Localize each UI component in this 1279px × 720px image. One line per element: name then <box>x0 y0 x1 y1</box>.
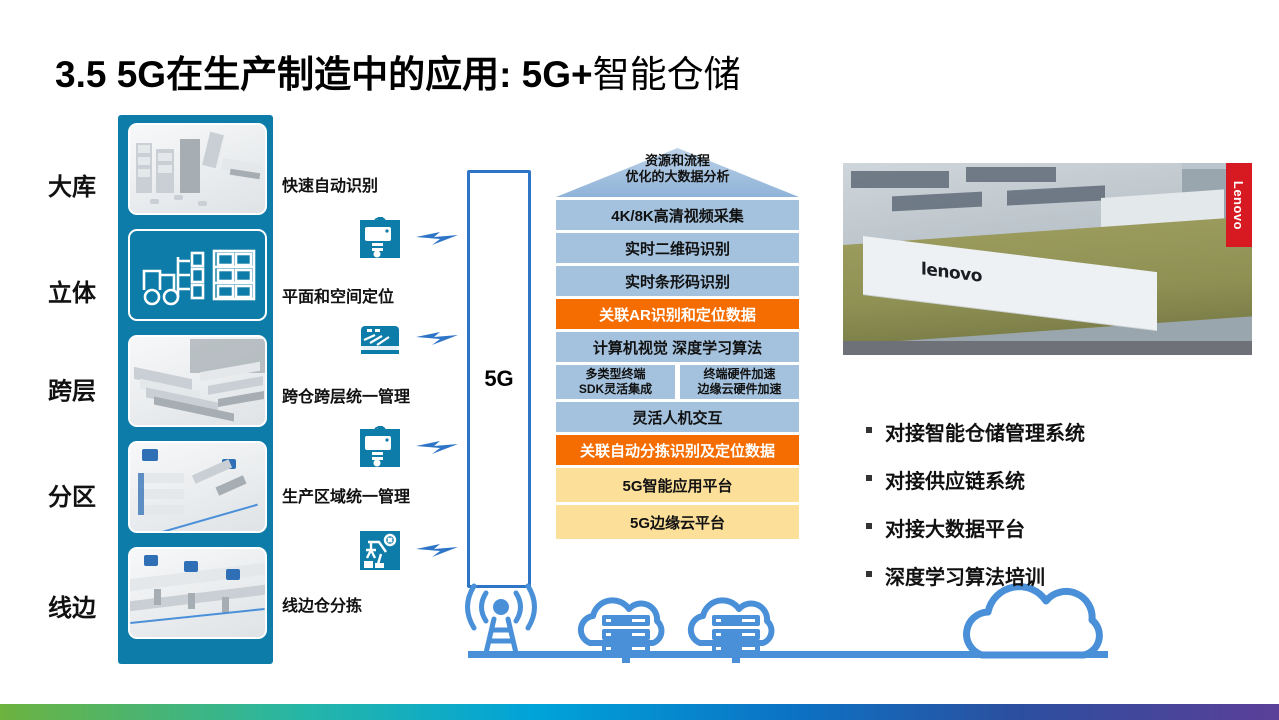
multi-level-conveyor-illustration <box>130 337 265 425</box>
slide-canvas: 3.5 5G在生产制造中的应用: 5G+智能仓储 <box>0 0 1279 720</box>
capability-label-2: 平面和空间定位 <box>282 283 394 307</box>
lightning-bolt-arrow-icon <box>414 437 460 457</box>
left-image-panel <box>118 115 273 664</box>
stack-layer-ar: 关联AR识别和定位数据 <box>556 299 799 329</box>
stack-layer-hmi: 灵活人机交互 <box>556 402 799 432</box>
stack-split-left: 多类型终端 SDK灵活集成 <box>556 365 675 399</box>
page-title: 3.5 5G在生产制造中的应用: 5G+智能仓储 <box>55 44 741 98</box>
lightning-bolt-arrow-icon <box>414 228 460 248</box>
stack-layer-qrcode: 实时二维码识别 <box>556 233 799 263</box>
list-item: 对接供应链系统 <box>866 465 1085 494</box>
split-left-line2: SDK灵活集成 <box>579 382 652 397</box>
zoned-production-area-illustration <box>130 443 265 531</box>
capability-label-4: 生产区域统一管理 <box>282 483 410 507</box>
row-label-warehouse: 大库 <box>48 167 118 202</box>
5g-network-pipe: 5G <box>467 170 531 588</box>
stack-split-right: 终端硬件加速 边缘云硬件加速 <box>680 365 799 399</box>
5g-antenna-tower-icon <box>460 581 542 659</box>
page-title-bold: 3.5 5G在生产制造中的应用: 5G+ <box>55 54 593 95</box>
row-label-vertical: 立体 <box>48 273 118 308</box>
roof-label: 资源和流程 优化的大数据分析 <box>556 153 799 186</box>
capability-label-5: 线边仓分拣 <box>282 592 362 616</box>
list-item-label: 对接智能仓储管理系统 <box>885 417 1085 446</box>
barcode-scanner-icon <box>358 216 402 260</box>
stack-split-row: 多类型终端 SDK灵活集成 终端硬件加速 边缘云硬件加速 <box>556 365 799 399</box>
ar-glasses-icon <box>358 316 402 360</box>
list-item: 深度学习算法培训 <box>866 561 1085 590</box>
line-side-conveyor-illustration <box>130 549 265 637</box>
lenovo-factory-photo: lenovo Lenovo <box>843 163 1252 355</box>
device-group-1 <box>358 216 463 262</box>
stack-layer-sorting: 关联自动分拣识别及定位数据 <box>556 435 799 465</box>
list-item: 对接智能仓储管理系统 <box>866 417 1085 446</box>
list-item-label: 深度学习算法培训 <box>885 561 1045 590</box>
list-item-label: 对接供应链系统 <box>885 465 1025 494</box>
row-label-lineside: 线边 <box>48 588 118 623</box>
stack-layer-cv: 计算机视觉 深度学习算法 <box>556 332 799 362</box>
lenovo-banner: Lenovo <box>1226 163 1252 247</box>
5g-pipe-label: 5G <box>470 366 528 392</box>
device-group-3 <box>358 425 463 471</box>
thumbnail-line-side-conveyor <box>128 547 267 639</box>
split-right-line1: 终端硬件加速 <box>697 367 781 382</box>
roof-label-line1: 资源和流程 <box>556 153 799 169</box>
cloud-server-icon <box>680 595 790 665</box>
stack-roof: 资源和流程 优化的大数据分析 <box>556 148 799 197</box>
bottom-gradient-strip <box>0 704 1279 720</box>
row-label-crosslayer: 跨层 <box>48 371 118 406</box>
bullet-square-icon <box>866 523 872 529</box>
barcode-scanner-icon <box>358 425 402 469</box>
list-item-label: 对接大数据平台 <box>885 513 1025 542</box>
forklift-rack-icon <box>130 231 265 319</box>
page-title-regular: 智能仓储 <box>593 55 741 96</box>
lightning-bolt-arrow-icon <box>414 328 460 348</box>
capability-stack: 资源和流程 优化的大数据分析 4K/8K高清视频采集 实时二维码识别 实时条形码… <box>556 148 799 542</box>
device-group-2 <box>358 316 463 362</box>
cloud-server-icon <box>570 595 680 665</box>
thumbnail-forklift-rack <box>128 229 267 321</box>
device-group-4 <box>358 528 463 574</box>
thumbnail-zoned-area <box>128 441 267 533</box>
stack-layer-app-platform: 5G智能应用平台 <box>556 468 799 502</box>
row-label-zone: 分区 <box>48 477 118 512</box>
thumbnail-warehouse-stacker <box>128 123 267 215</box>
bullet-square-icon <box>866 475 872 481</box>
robot-arm-icon <box>358 528 402 572</box>
split-right-line2: 边缘云硬件加速 <box>697 382 781 397</box>
bullet-square-icon <box>866 427 872 433</box>
split-left-line1: 多类型终端 <box>579 367 652 382</box>
benefits-list: 对接智能仓储管理系统 对接供应链系统 对接大数据平台 深度学习算法培训 <box>866 417 1085 609</box>
capability-label-1: 快速自动识别 <box>282 172 378 196</box>
roof-label-line2: 优化的大数据分析 <box>556 169 799 185</box>
bullet-square-icon <box>866 571 872 577</box>
capability-label-3: 跨仓跨层统一管理 <box>282 383 410 407</box>
lightning-bolt-arrow-icon <box>414 540 460 560</box>
stack-layer-edge-platform: 5G边缘云平台 <box>556 505 799 539</box>
stack-layer-4k8k: 4K/8K高清视频采集 <box>556 200 799 230</box>
lenovo-banner-text: Lenovo <box>1232 180 1247 229</box>
stack-layer-barcode: 实时条形码识别 <box>556 266 799 296</box>
warehouse-stacker-illustration <box>130 125 265 213</box>
thumbnail-multi-level-conveyor <box>128 335 267 427</box>
list-item: 对接大数据平台 <box>866 513 1085 542</box>
